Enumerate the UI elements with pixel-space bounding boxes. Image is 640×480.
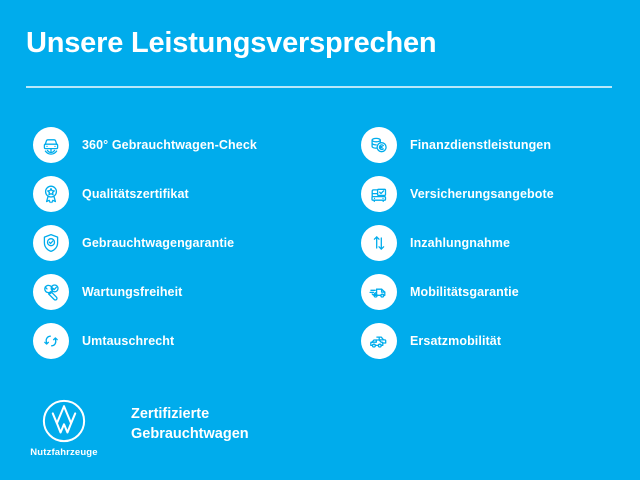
list-item[interactable]: Mobilitätsgarantie [361, 267, 631, 316]
list-item[interactable]: 360° Gebrauchtwagen-Check [33, 120, 333, 169]
brand-claim-line-2: Gebrauchtwagen [131, 425, 249, 445]
van-check-icon [361, 274, 397, 310]
list-item-label: Versicherungsangebote [410, 187, 554, 201]
list-item-label: Gebrauchtwagengarantie [82, 236, 234, 250]
list-item[interactable]: Inzahlungnahme [361, 218, 631, 267]
header: Unsere Leistungsversprechen [26, 28, 614, 60]
list-item[interactable]: Gebrauchtwagengarantie [33, 218, 333, 267]
brand-lockup: Nutzfahrzeuge Zertifizierte Gebrauchtwag… [30, 398, 249, 458]
shield-check-icon [33, 225, 69, 261]
coins-euro-icon [361, 127, 397, 163]
brand-claim: Zertifizierte Gebrauchtwagen [131, 405, 249, 444]
promises-column-right: Finanzdienstleistungen Versicherungsange… [361, 120, 631, 365]
list-item[interactable]: Versicherungsangebote [361, 169, 631, 218]
insurance-car-icon [361, 176, 397, 212]
list-item[interactable]: Wartungsfreiheit [33, 267, 333, 316]
car-check-icon [33, 127, 69, 163]
promises-column-left: 360° Gebrauchtwagen-Check Qualitätszerti… [33, 120, 333, 365]
vw-logo-subtitle: Nutzfahrzeuge [30, 447, 97, 458]
list-item-label: Umtauschrecht [82, 334, 174, 348]
list-item[interactable]: Ersatzmobilität [361, 316, 631, 365]
list-item[interactable]: Finanzdienstleistungen [361, 120, 631, 169]
title-divider [26, 86, 612, 88]
page-title: Unsere Leistungsversprechen [26, 28, 614, 60]
list-item[interactable]: Umtauschrecht [33, 316, 333, 365]
up-down-arrows-icon [361, 225, 397, 261]
vw-logo-icon [41, 398, 87, 444]
wrench-check-icon [33, 274, 69, 310]
list-item-label: Inzahlungnahme [410, 236, 510, 250]
exchange-arrows-icon [33, 323, 69, 359]
vw-logo: Nutzfahrzeuge [30, 398, 98, 458]
list-item-label: Finanzdienstleistungen [410, 138, 551, 152]
two-cars-icon [361, 323, 397, 359]
list-item-label: Qualitätszertifikat [82, 187, 189, 201]
list-item-label: 360° Gebrauchtwagen-Check [82, 138, 257, 152]
list-item-label: Ersatzmobilität [410, 334, 501, 348]
quality-rosette-icon [33, 176, 69, 212]
brand-claim-line-1: Zertifizierte [131, 405, 249, 425]
list-item-label: Wartungsfreiheit [82, 285, 182, 299]
list-item-label: Mobilitätsgarantie [410, 285, 519, 299]
slide-root: Unsere Leistungsversprechen 360° Gebrauc… [0, 0, 640, 480]
list-item[interactable]: Qualitätszertifikat [33, 169, 333, 218]
